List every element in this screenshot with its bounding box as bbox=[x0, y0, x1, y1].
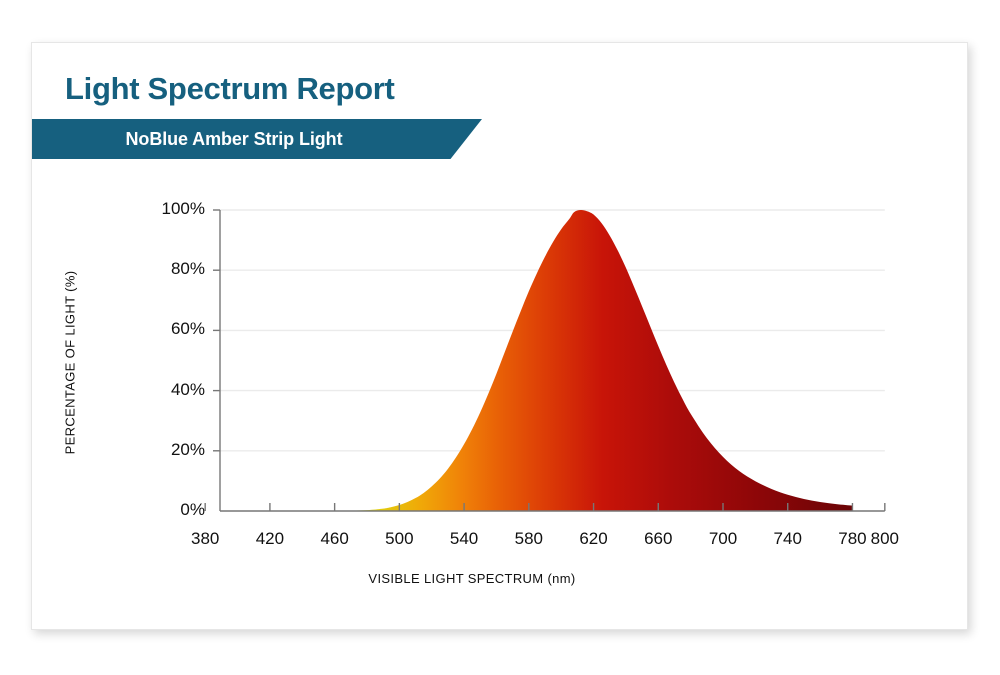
spectrum-chart: PERCENTAGE OF LIGHT (%) VISIBLE LIGHT SP… bbox=[32, 43, 969, 631]
spectrum-plot bbox=[32, 43, 969, 631]
report-card: Light Spectrum Report NoBlue Amber Strip… bbox=[31, 42, 968, 630]
spectrum-curve bbox=[205, 210, 852, 511]
